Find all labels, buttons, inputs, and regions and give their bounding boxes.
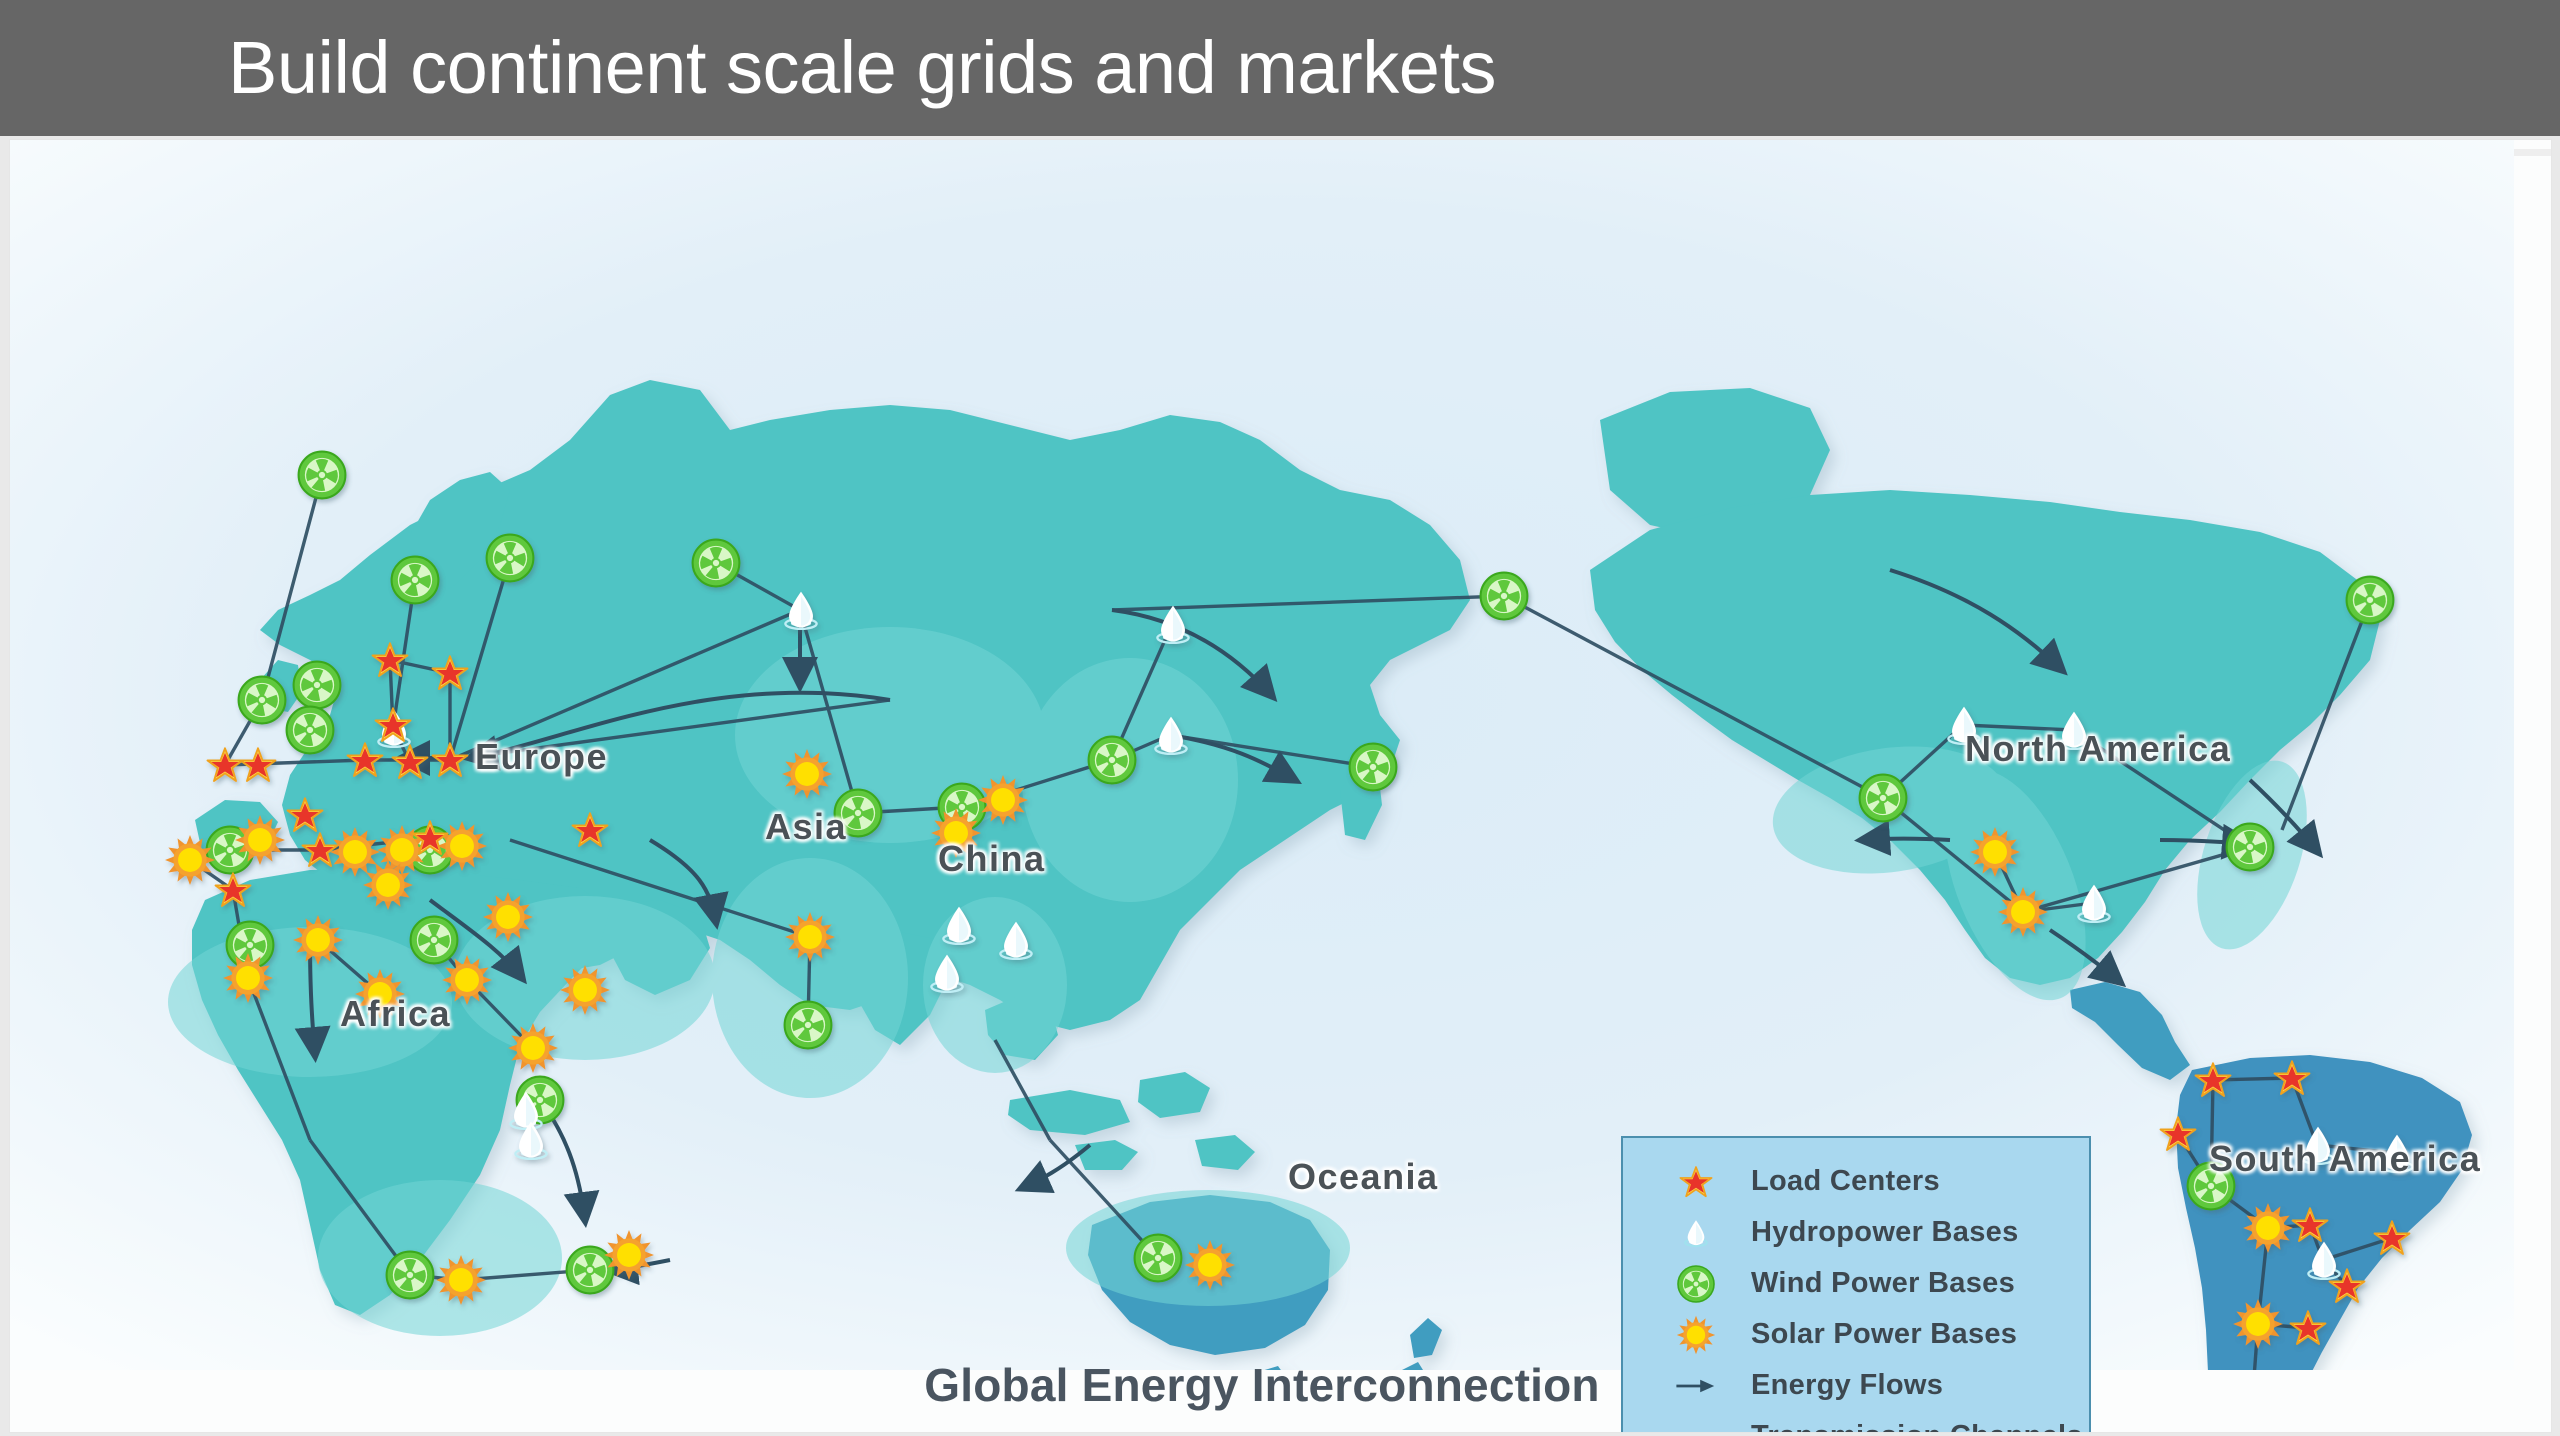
legend-item-load-centers: Load Centers	[1667, 1156, 2089, 1207]
global-energy-map-figure: Europe Asia China Africa Oceania North A…	[10, 140, 2514, 1433]
legend-label-wind-power-bases: Wind Power Bases	[1751, 1267, 2015, 1300]
water-droplet-icon	[1667, 1211, 1725, 1255]
slide-header: Build continent scale grids and markets	[0, 0, 2560, 136]
world-map-svg	[10, 140, 2514, 1370]
map-canvas: Europe Asia China Africa Oceania North A…	[10, 140, 2514, 1370]
legend-item-solar-power-bases: Solar Power Bases	[1667, 1309, 2089, 1360]
figure-caption: Global Energy Interconnection	[10, 1358, 2514, 1412]
slide: Build continent scale grids and markets	[0, 0, 2560, 1436]
legend-label-solar-power-bases: Solar Power Bases	[1751, 1318, 2017, 1351]
legend-item-wind-power-bases: Wind Power Bases	[1667, 1258, 2089, 1309]
page-title: Build continent scale grids and markets	[228, 16, 1496, 120]
legend-label-load-centers: Load Centers	[1751, 1165, 1940, 1198]
legend-label-transmission-channels: Transmission Channels	[1751, 1420, 2083, 1433]
content-panel: Europe Asia China Africa Oceania North A…	[9, 139, 2552, 1433]
horizontal-line-icon	[1667, 1415, 1725, 1434]
legend-label-hydropower-bases: Hydropower Bases	[1751, 1216, 2019, 1249]
star-icon	[1667, 1160, 1725, 1204]
legend-item-hydropower-bases: Hydropower Bases	[1667, 1207, 2089, 1258]
sun-icon	[1667, 1313, 1725, 1357]
wind-turbine-icon	[1667, 1262, 1725, 1306]
legend-item-transmission-channels: Transmission Channels	[1667, 1411, 2089, 1433]
